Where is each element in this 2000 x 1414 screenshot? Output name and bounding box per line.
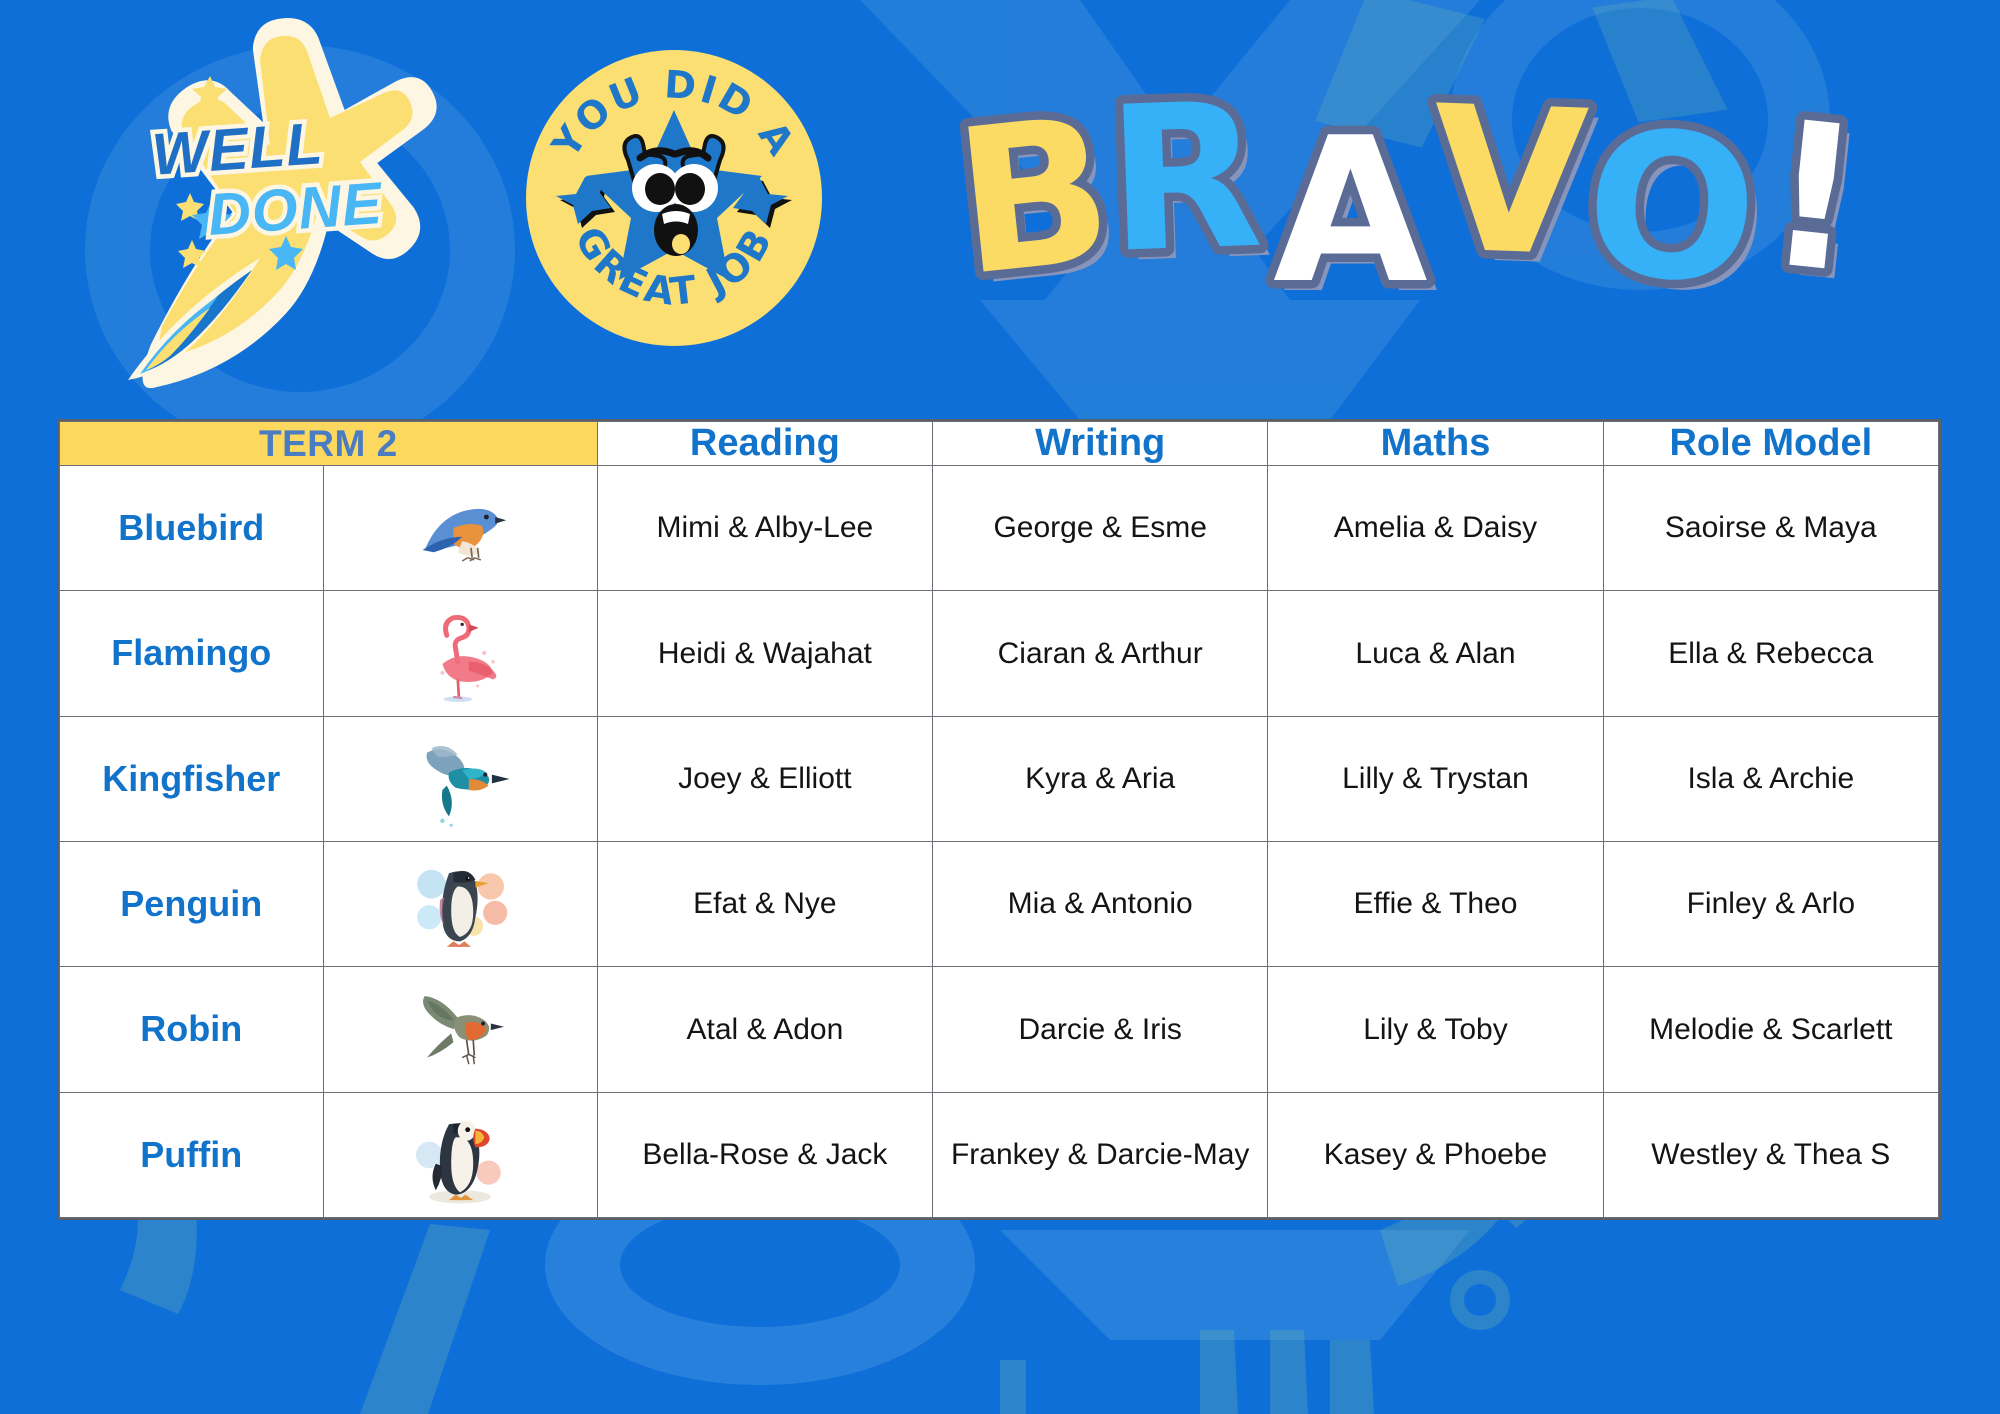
bravo-letter-A: A (1273, 95, 1428, 328)
table-row: Puffin Bella-Rose & JackFrankey & Darcie… (60, 1092, 1939, 1217)
cell-writing: Ciaran & Arthur (933, 591, 1268, 716)
cell-reading: Heidi & Wajahat (597, 591, 932, 716)
bravo-wordmark: B R A V O ! B R A V O ! (945, 40, 1945, 340)
cell-role-model: Ella & Rebecca (1603, 591, 1938, 716)
cell-reading: Atal & Adon (597, 967, 932, 1092)
row-class-name: Robin (60, 967, 324, 1092)
cell-role-model: Saoirse & Maya (1603, 466, 1938, 591)
cell-writing: George & Esme (933, 466, 1268, 591)
cell-reading: Efat & Nye (597, 841, 932, 966)
penguin-watercolor-icon (405, 849, 515, 959)
cell-maths: Luca & Alan (1268, 591, 1603, 716)
bluebird-watercolor-icon (405, 473, 515, 583)
column-header-reading: Reading (597, 422, 932, 466)
column-header-writing: Writing (933, 422, 1268, 466)
row-bird-icon-cell (323, 967, 597, 1092)
row-class-name: Puffin (60, 1092, 324, 1217)
flamingo-watercolor-icon (405, 598, 515, 708)
awards-table: TERM 2 Reading Writing Maths Role Model … (59, 421, 1939, 1218)
cell-reading: Joey & Elliott (597, 716, 932, 841)
cell-reading: Bella-Rose & Jack (597, 1092, 932, 1217)
great-job-badge: YOU DID A GREAT JOB (524, 48, 824, 348)
table-header-row: TERM 2 Reading Writing Maths Role Model (60, 422, 1939, 466)
bravo-letter-O: O (1579, 86, 1765, 330)
row-bird-icon-cell (323, 466, 597, 591)
table-row: Kingfisher Joey & ElliottKyra & AriaLill… (60, 716, 1939, 841)
row-class-name: Kingfisher (60, 716, 324, 841)
table-row: Robin Atal & AdonDarcie & IrisLily & Tob… (60, 967, 1939, 1092)
cell-role-model: Westley & Thea S (1603, 1092, 1938, 1217)
column-header-role-model: Role Model (1603, 422, 1938, 466)
cell-writing: Frankey & Darcie-May (933, 1092, 1268, 1217)
bravo-letter-R: R (1104, 60, 1266, 298)
bravo-svg: B R A V O ! B R A V O ! (945, 40, 1945, 340)
row-bird-icon-cell (323, 1092, 597, 1217)
cell-writing: Mia & Antonio (933, 841, 1268, 966)
row-class-name: Flamingo (60, 591, 324, 716)
table-row: Flamingo Heidi & WajahatCiaran & ArthurL… (60, 591, 1939, 716)
term-header-cell: TERM 2 (60, 422, 598, 466)
bravo-letter-B: B (946, 74, 1122, 322)
cell-maths: Amelia & Daisy (1268, 466, 1603, 591)
cell-role-model: Isla & Archie (1603, 716, 1938, 841)
cell-maths: Kasey & Phoebe (1268, 1092, 1603, 1217)
row-bird-icon-cell (323, 716, 597, 841)
cell-writing: Darcie & Iris (933, 967, 1268, 1092)
row-bird-icon-cell (323, 591, 597, 716)
row-class-name: Penguin (60, 841, 324, 966)
cell-maths: Lily & Toby (1268, 967, 1603, 1092)
table-row: Bluebird Mimi & Alby-LeeGeorge & EsmeAme… (60, 466, 1939, 591)
well-done-line2: DONE (206, 174, 384, 245)
column-header-maths: Maths (1268, 422, 1603, 466)
row-class-name: Bluebird (60, 466, 324, 591)
well-done-sticker: WELL DONE (110, 8, 440, 388)
cell-reading: Mimi & Alby-Lee (597, 466, 932, 591)
robin-watercolor-icon (405, 974, 515, 1084)
header-decorations: WELL DONE YOU DID A GREAT JOB (0, 0, 2000, 420)
row-bird-icon-cell (323, 841, 597, 966)
awards-table-container: TERM 2 Reading Writing Maths Role Model … (57, 419, 1941, 1220)
table-row: Penguin Efat & NyeMia & AntonioEffie & T… (60, 841, 1939, 966)
awards-table-body: Bluebird Mimi & Alby-LeeGeorge & EsmeAme… (60, 466, 1939, 1218)
cell-role-model: Melodie & Scarlett (1603, 967, 1938, 1092)
kingfisher-watercolor-icon (405, 724, 515, 834)
well-done-line1: WELL (150, 114, 325, 185)
great-job-badge-svg: YOU DID A GREAT JOB (524, 48, 824, 348)
bravo-letter-V: V (1428, 63, 1591, 301)
cell-maths: Lilly & Trystan (1268, 716, 1603, 841)
cell-writing: Kyra & Aria (933, 716, 1268, 841)
cell-maths: Effie & Theo (1268, 841, 1603, 966)
cell-role-model: Finley & Arlo (1603, 841, 1938, 966)
puffin-watercolor-icon (405, 1100, 515, 1210)
